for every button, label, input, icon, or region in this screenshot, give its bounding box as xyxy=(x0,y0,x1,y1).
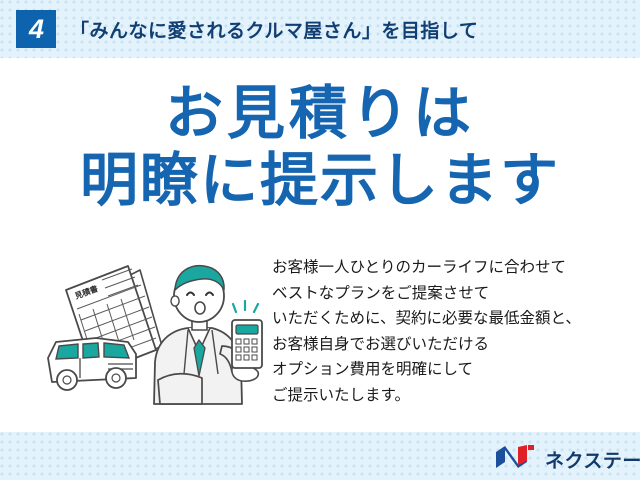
headline: お見積りは 明瞭に提示します xyxy=(0,80,640,215)
header-title: 「みんなに愛されるクルマ屋さん」を目指して xyxy=(70,16,478,43)
brand-name-text: ネクステージ xyxy=(545,446,640,473)
body-copy: お客様一人ひとりのカーライフに合わせて ベストなプランをご提案させて いただくた… xyxy=(272,255,622,408)
header: 4 「みんなに愛されるクルマ屋さん」を目指して xyxy=(0,0,640,58)
body-copy-line-3: いただくために、契約に必要な最低金額と、 xyxy=(272,306,622,332)
headline-line-1: お見積りは xyxy=(0,80,640,147)
body-copy-line-4: お客様自身でお選びいただける xyxy=(272,332,622,358)
calculator xyxy=(232,320,262,368)
calculator-display xyxy=(236,325,258,334)
teal-van xyxy=(48,338,136,390)
nextage-n-logo-icon xyxy=(494,444,536,475)
promo-slide: 4 「みんなに愛されるクルマ屋さん」を目指して お見積りは 明瞭に提示します お… xyxy=(0,0,640,480)
brand-logo: ネクステージ xyxy=(494,444,640,474)
illustration-quote-and-salesman: 見積書 xyxy=(36,254,268,422)
main-content-panel: お見積りは 明瞭に提示します お客様一人ひとりのカーライフに合わせて ベストなプ… xyxy=(0,58,640,432)
body-copy-line-6: ご提示いたします。 xyxy=(272,383,622,409)
step-number-badge: 4 xyxy=(16,10,56,48)
sparkle-lines xyxy=(233,301,258,312)
headline-line-2: 明瞭に提示します xyxy=(0,147,640,214)
body-copy-line-1: お客様一人ひとりのカーライフに合わせて xyxy=(272,255,622,281)
body-copy-line-2: ベストなプランをご提案させて xyxy=(272,281,622,307)
body-copy-line-5: オプション費用を明確にして xyxy=(272,357,622,383)
